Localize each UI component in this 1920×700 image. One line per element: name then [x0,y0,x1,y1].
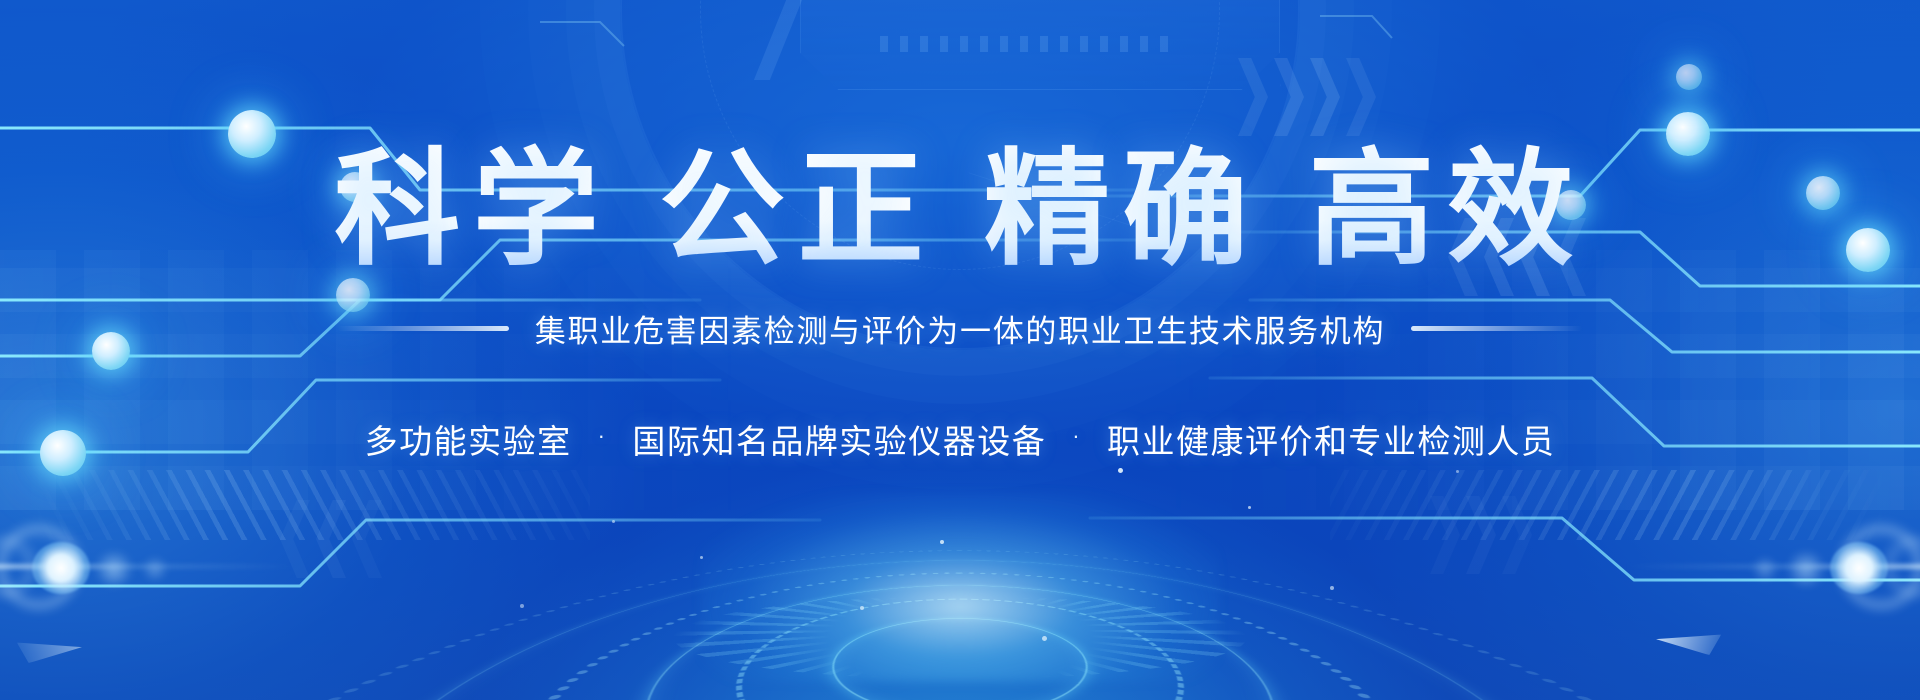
tagline-item-3: 职业健康评价和专业检测人员 [1107,415,1555,463]
divider-line-left [337,326,509,331]
banner-subtitle: 集职业危害因素检测与评价为一体的职业卫生技术服务机构 [535,306,1385,351]
banner-subtitle-row: 集职业危害因素检测与评价为一体的职业卫生技术服务机构 [337,306,1583,351]
hero-banner: 科学 公正 精确 高效 集职业危害因素检测与评价为一体的职业卫生技术服务机构 多… [0,0,1920,700]
banner-headline: 科学 公正 精确 高效 [334,142,1586,278]
banner-content: 科学 公正 精确 高效 集职业危害因素检测与评价为一体的职业卫生技术服务机构 多… [0,0,1920,700]
divider-line-right [1411,326,1583,331]
tagline-separator: · [598,425,607,447]
tagline-item-2: 国际知名品牌实验仪器设备 [632,415,1046,463]
tagline-item-1: 多功能实验室 [365,415,572,463]
tagline-separator: · [1072,425,1081,447]
banner-tagline: 多功能实验室 · 国际知名品牌实验仪器设备 · 职业健康评价和专业检测人员 [365,415,1556,463]
